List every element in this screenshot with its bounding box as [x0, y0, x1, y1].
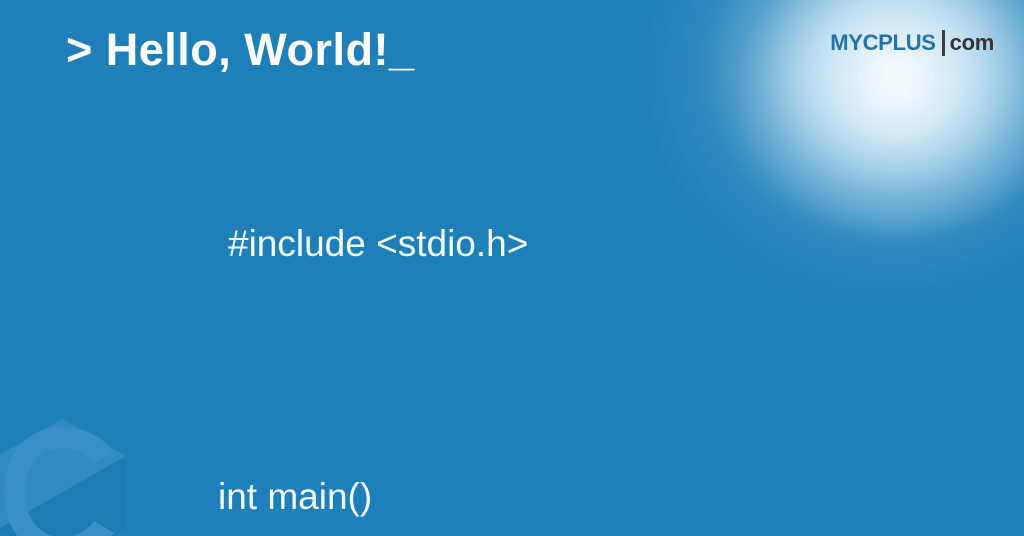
- hexagon-light-face: [0, 419, 126, 536]
- code-block: #include <stdio.h> int main() { printf("…: [218, 128, 648, 536]
- c-language-logo-watermark: [0, 415, 132, 536]
- letter-c-glyph: [4, 427, 114, 536]
- logo-tld: com: [950, 32, 994, 54]
- code-line-include: #include <stdio.h>: [218, 221, 648, 267]
- page-title: > Hello, World!_: [66, 23, 414, 77]
- logo-brand-name: MYCPLUS: [830, 32, 935, 54]
- code-line-blank: [218, 359, 648, 381]
- hexagon-dark-face: [0, 456, 126, 536]
- logo-divider-bar: [942, 30, 945, 56]
- slide-canvas: MYCPLUS com > Hello, World!_ #include <s…: [0, 0, 1024, 536]
- code-line-main: int main(): [218, 474, 648, 520]
- mycplus-logo[interactable]: MYCPLUS com: [830, 30, 994, 56]
